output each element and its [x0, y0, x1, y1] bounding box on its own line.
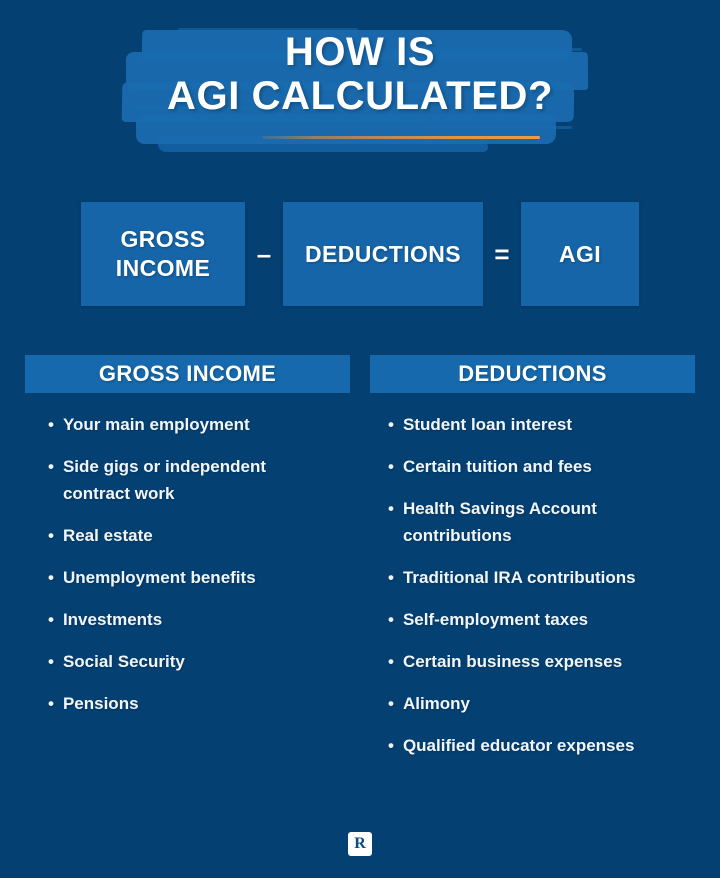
detail-columns: GROSS INCOME • Your main employment • Si… [0, 355, 720, 774]
column-deductions: DEDUCTIONS • Student loan interest • Cer… [370, 355, 695, 774]
list-item: • Unemployment benefits [25, 564, 350, 591]
list-item: • Student loan interest [370, 411, 695, 438]
column-gross-income: GROSS INCOME • Your main employment • Si… [25, 355, 350, 774]
minus-operator: – [245, 239, 283, 270]
list-item: • Certain tuition and fees [370, 453, 695, 480]
list-item-label: Side gigs or independent contract work [63, 453, 333, 507]
list-item: • Side gigs or independent contract work [25, 453, 350, 507]
list-item-label: Student loan interest [403, 411, 673, 438]
bullet-icon: • [48, 522, 54, 549]
list-item: • Certain business expenses [370, 648, 695, 675]
bullet-icon: • [48, 411, 54, 438]
column-header-deductions: DEDUCTIONS [370, 355, 695, 393]
list-item-label: Certain business expenses [403, 648, 673, 675]
list-item-label: Investments [63, 606, 333, 633]
ramsey-logo-icon: R [348, 832, 372, 856]
bullet-icon: • [48, 606, 54, 633]
formula-box-gross-income: GROSS INCOME [81, 202, 245, 306]
bullet-icon: • [48, 453, 54, 480]
agi-formula-row: GROSS INCOME – DEDUCTIONS = AGI [0, 202, 720, 306]
list-item-label: Self-employment taxes [403, 606, 673, 633]
page-title-line-1: HOW IS [0, 30, 720, 74]
gross-income-list: • Your main employment • Side gigs or in… [25, 393, 350, 717]
list-item-label: Social Security [63, 648, 333, 675]
list-item-label: Alimony [403, 690, 673, 717]
formula-box-agi: AGI [521, 202, 639, 306]
bullet-icon: • [48, 648, 54, 675]
bullet-icon: • [48, 564, 54, 591]
page-title-line-2: AGI CALCULATED? [0, 74, 720, 118]
list-item-label: Real estate [63, 522, 333, 549]
list-item: • Alimony [370, 690, 695, 717]
list-item-label: Traditional IRA contributions [403, 564, 673, 591]
list-item: • Health Savings Account contributions [370, 495, 695, 549]
bullet-icon: • [388, 606, 394, 633]
brush-band [136, 114, 557, 144]
bullet-icon: • [388, 648, 394, 675]
bullet-icon: • [388, 732, 394, 759]
list-item: • Qualified educator expenses [370, 732, 695, 759]
footer: R [0, 832, 720, 856]
bullet-icon: • [388, 411, 394, 438]
list-item-label: Qualified educator expenses [403, 732, 673, 759]
list-item: • Real estate [25, 522, 350, 549]
list-item-label: Pensions [63, 690, 333, 717]
list-item-label: Certain tuition and fees [403, 453, 673, 480]
equals-operator: = [483, 239, 521, 270]
list-item: • Investments [25, 606, 350, 633]
title-underline-accent [262, 136, 540, 139]
deductions-list: • Student loan interest • Certain tuitio… [370, 393, 695, 759]
list-item: • Self-employment taxes [370, 606, 695, 633]
list-item-label: Unemployment benefits [63, 564, 333, 591]
list-item-label: Your main employment [63, 411, 333, 438]
bullet-icon: • [388, 453, 394, 480]
bullet-icon: • [48, 690, 54, 717]
bullet-icon: • [388, 690, 394, 717]
list-item: • Traditional IRA contributions [370, 564, 695, 591]
list-item: • Social Security [25, 648, 350, 675]
list-item: • Pensions [25, 690, 350, 717]
page-title: HOW IS AGI CALCULATED? [0, 30, 720, 118]
brush-strand [422, 126, 572, 129]
bullet-icon: • [388, 564, 394, 591]
list-item: • Your main employment [25, 411, 350, 438]
column-header-gross-income: GROSS INCOME [25, 355, 350, 393]
formula-box-deductions: DEDUCTIONS [283, 202, 483, 306]
list-item-label: Health Savings Account contributions [403, 495, 673, 549]
bullet-icon: • [388, 495, 394, 522]
header-banner: HOW IS AGI CALCULATED? [0, 0, 720, 180]
